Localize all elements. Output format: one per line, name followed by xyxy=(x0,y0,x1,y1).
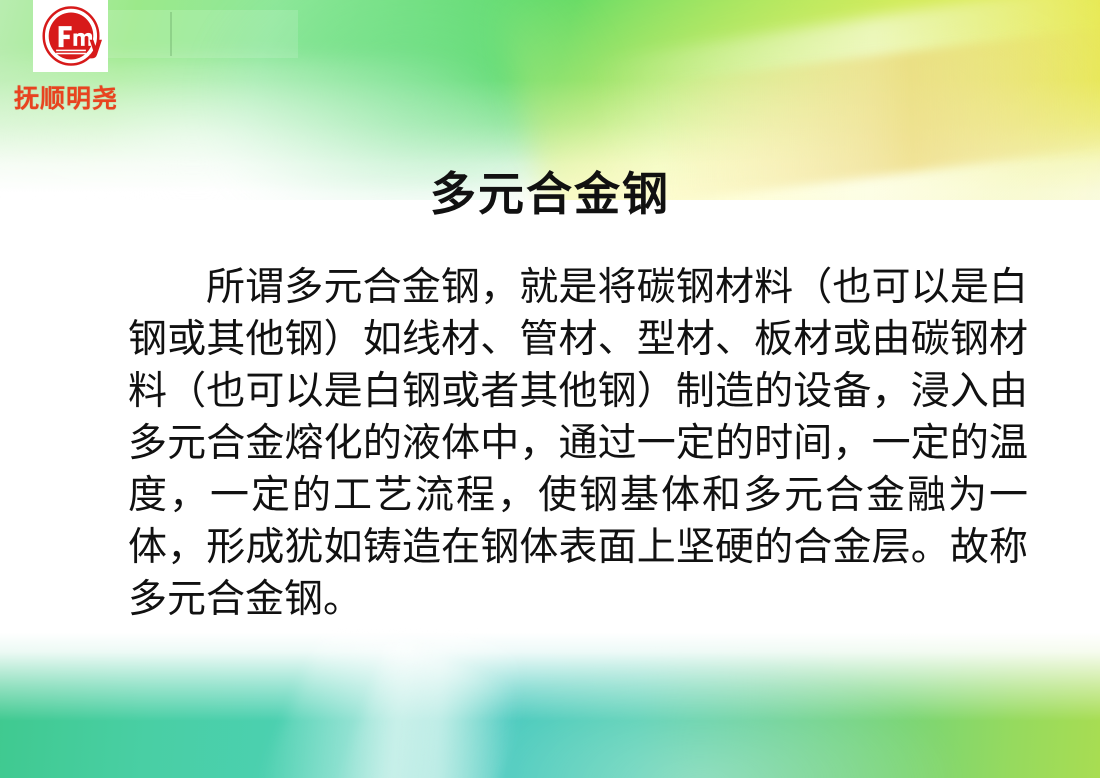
slide-content: 多元合金钢 所谓多元合金钢，就是将碳钢材料（也可以是白钢或其他钢）如线材、管材、… xyxy=(0,0,1100,778)
presentation-slide: 抚顺明尧 多元合金钢 所谓多元合金钢，就是将碳钢材料（也可以是白钢或其他钢）如线… xyxy=(0,0,1100,778)
slide-title: 多元合金钢 xyxy=(0,170,1100,218)
slide-body-paragraph: 所谓多元合金钢，就是将碳钢材料（也可以是白钢或其他钢）如线材、管材、型材、板材或… xyxy=(128,262,1028,626)
